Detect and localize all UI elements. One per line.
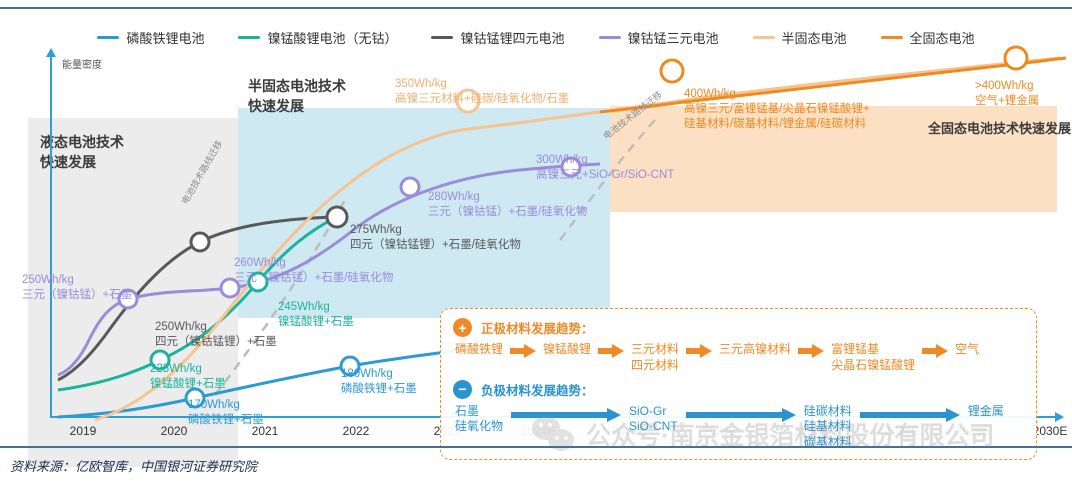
point-solid-400plus <box>1005 47 1027 69</box>
legend-item-ncma[interactable]: 镍钴锰锂四元电池 <box>431 28 564 47</box>
cathode-node-5: 空气 <box>955 342 979 358</box>
xtick-2020: 2020 <box>161 424 188 438</box>
anode-node-1: SiO-Gr SiO-CNT <box>629 404 678 436</box>
cathode-trend-title: 正极材料发展趋势： <box>481 318 594 337</box>
cathode-node-2: 三元材料 四元材料 <box>631 342 679 374</box>
arrow-right-icon <box>510 344 536 363</box>
chart-page: 磷酸铁锂电池 镍锰酸锂电池（无钴） 镍钴锰锂四元电池 镍钴锰三元电池 半固态电池… <box>0 0 1072 484</box>
anode-chain: 石墨 硅氧化物 SiO-Gr SiO-CNT 硅碳材料 硅基材料 碳基材料 锂金… <box>453 404 1024 451</box>
chart-legend: 磷酸铁锂电池 镍锰酸锂电池（无钴） 镍钴锰锂四元电池 镍钴锰三元电池 半固态电池… <box>0 26 1072 48</box>
legend-label-ncm: 镍钴锰三元电池 <box>628 28 719 47</box>
legend-swatch-semi-solid <box>753 36 775 39</box>
plus-icon: + <box>453 318 472 337</box>
arrow-right-icon <box>686 408 796 427</box>
point-solid-400 <box>661 60 683 82</box>
minus-icon: − <box>453 380 472 399</box>
legend-item-lnmo[interactable]: 镍锰酸锂电池（无钴） <box>238 28 397 47</box>
point-ncm-300 <box>562 158 580 176</box>
point-ncm-250 <box>119 290 137 308</box>
arrow-right-icon <box>860 408 960 427</box>
legend-swatch-all-solid <box>881 36 903 39</box>
point-lfp-170 <box>186 389 204 407</box>
cathode-node-1: 镍锰酸锂 <box>543 342 591 358</box>
arrow-right-icon <box>798 344 824 363</box>
legend-swatch-lfp <box>97 36 119 39</box>
point-ncma-275 <box>327 207 347 227</box>
plot-area: 液态电池技术 快速发展 半固态电池技术 快速发展 全固态电池技术快速发展 能量密… <box>0 50 1072 430</box>
legend-label-lfp: 磷酸铁锂电池 <box>126 28 204 47</box>
anode-trend-title: 负极材料发展趋势： <box>481 380 594 399</box>
legend-item-all-solid[interactable]: 全固态电池 <box>881 28 975 47</box>
legend-swatch-ncma <box>431 36 453 39</box>
arrow-right-icon <box>511 408 621 427</box>
anode-node-0: 石墨 硅氧化物 <box>455 404 503 436</box>
cathode-node-3: 三元高镍材料 <box>719 342 791 358</box>
point-lnmo-245 <box>249 273 267 291</box>
legend-label-semi-solid: 半固态电池 <box>782 28 847 47</box>
xtick-2021: 2021 <box>252 424 279 438</box>
cathode-trend-header: + 正极材料发展趋势： <box>453 318 1024 337</box>
point-ncm-260 <box>221 279 239 297</box>
legend-swatch-lnmo <box>238 36 260 39</box>
anode-node-2: 硅碳材料 硅基材料 碳基材料 <box>804 404 852 451</box>
xtick-2030E: 2030E <box>1033 424 1068 438</box>
legend-item-semi-solid[interactable]: 半固态电池 <box>753 28 847 47</box>
arrow-right-icon <box>922 344 948 363</box>
legend-label-ncma: 镍钴锰锂四元电池 <box>460 28 564 47</box>
legend-label-lnmo: 镍锰酸锂电池（无钴） <box>267 28 397 47</box>
cathode-node-0: 磷酸铁锂 <box>455 342 503 358</box>
source-note: 资料来源：亿欧智库，中国银河证券研究院 <box>10 456 257 475</box>
legend-item-ncm[interactable]: 镍钴锰三元电池 <box>599 28 719 47</box>
point-lnmo-225 <box>151 351 169 369</box>
arrow-right-icon <box>598 344 624 363</box>
cathode-node-4: 富锂锰基 尖晶石镍锰酸锂 <box>831 342 915 374</box>
legend-item-lfp[interactable]: 磷酸铁锂电池 <box>97 28 204 47</box>
top-rule <box>0 7 1072 9</box>
material-trend-box: + 正极材料发展趋势： 磷酸铁锂 镍锰酸锂 三元材料 四元材料 三元高镍材料 <box>440 308 1037 460</box>
point-ncm-280 <box>401 178 419 196</box>
anode-trend-header: − 负极材料发展趋势： <box>453 380 1024 399</box>
anode-node-3: 锂金属 <box>968 404 1004 420</box>
cathode-chain: 磷酸铁锂 镍锰酸锂 三元材料 四元材料 三元高镍材料 富锂锰基 尖晶石镍锰酸锂 <box>453 342 1024 374</box>
legend-swatch-ncm <box>599 36 621 39</box>
bottom-rule <box>0 446 1072 448</box>
point-ncma-250 <box>191 233 209 251</box>
point-lfp-180 <box>341 357 359 375</box>
xtick-2019: 2019 <box>70 424 97 438</box>
xtick-2022: 2022 <box>343 424 370 438</box>
arrow-right-icon <box>686 344 712 363</box>
legend-label-all-solid: 全固态电池 <box>910 28 975 47</box>
point-semi-350 <box>457 90 479 112</box>
